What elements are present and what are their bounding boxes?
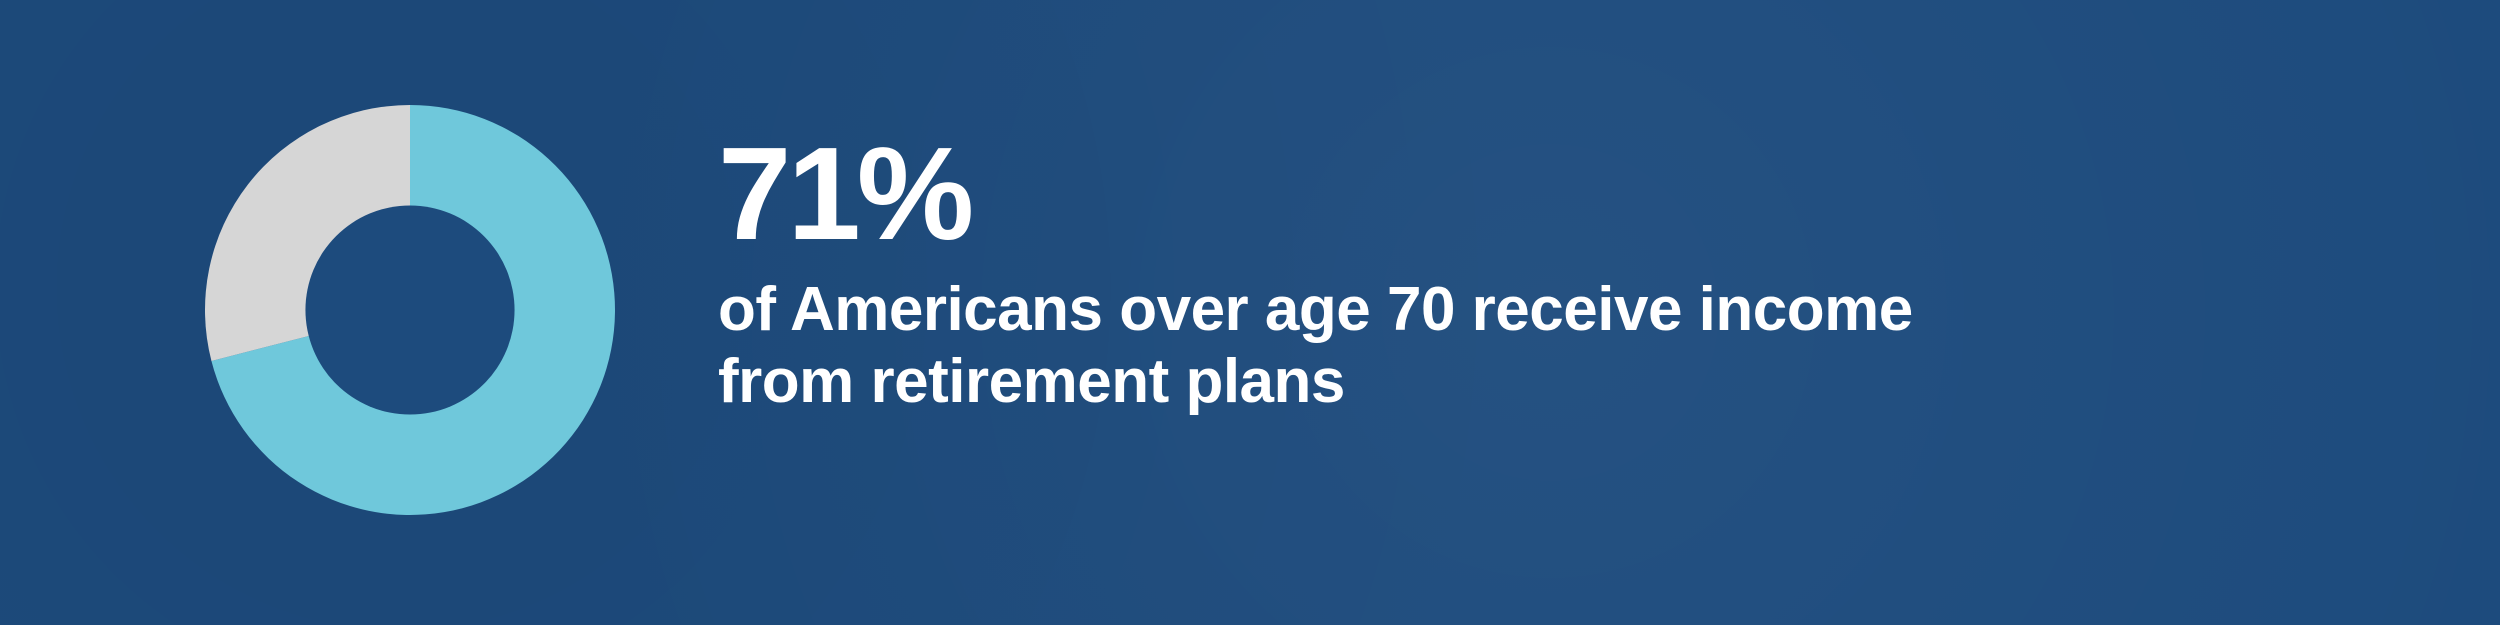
stat-description-line-1: of Americans over age 70 receive income <box>718 274 2278 346</box>
stat-description: of Americans over age 70 receive income … <box>718 274 2278 418</box>
donut-center-hole <box>305 205 514 414</box>
banner-content: 71% of Americans over age 70 receive inc… <box>0 0 2500 625</box>
donut-chart <box>205 105 615 515</box>
donut-chart-svg <box>205 105 615 515</box>
stat-percentage-value: 71% <box>718 128 2278 260</box>
stat-text-block: 71% of Americans over age 70 receive inc… <box>718 128 2278 418</box>
infographic-banner: 71% of Americans over age 70 receive inc… <box>0 0 2500 625</box>
stat-description-line-2: from retirement plans <box>718 346 2278 418</box>
